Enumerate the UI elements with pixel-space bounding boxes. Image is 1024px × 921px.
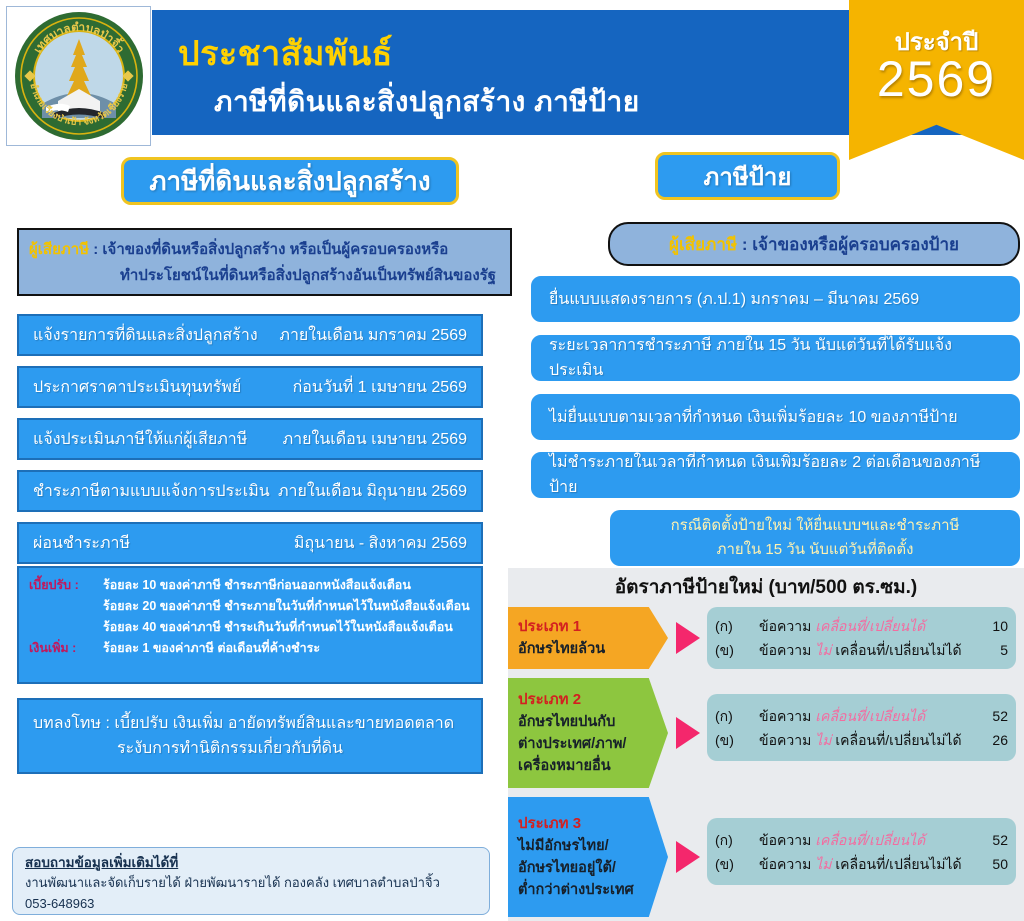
land-taxpayer-line1: ผู้เสียภาษี : เจ้าของที่ดินหรือสิ่งปลูกส… (19, 236, 510, 262)
land-row-2: แจ้งประเมินภาษีให้แก่ผู้เสียภาษี ภายในเด… (17, 418, 483, 460)
rate-row-1-0-text: ข้อความ เคลื่อนที่/เปลี่ยนได้ (759, 704, 980, 728)
land-row-3-value: ภายในเดือน มิถุนายน 2569 (278, 479, 467, 504)
section-title-land-tax: ภาษีที่ดินและสิ่งปลูกสร้าง (121, 157, 459, 205)
rate-row-0-0-amount: 10 (980, 614, 1008, 638)
land-punishment-box: บทลงโทษ : เบี้ยปรับ เงินเพิ่ม อายัดทรัพย… (17, 698, 483, 774)
rate-row-2-0-amount: 52 (980, 828, 1008, 852)
land-taxpayer-sep: : (89, 241, 102, 258)
rate-row-0-0-emph: เคลื่อนที่/เปลี่ยนได้ (815, 618, 925, 634)
rate-row-2-1-pre: ข้อความ (759, 856, 815, 872)
contact-phone: 053-648963 (25, 893, 477, 914)
rate-category-1-sub-1: ต่างประเทศ/ภาพ/ (518, 733, 668, 755)
penalty-fine-row-1: ร้อยละ 20 ของค่าภาษี ชำระภายในวันที่กำหน… (29, 596, 471, 617)
sign-taxpayer-line: ผู้เสียภาษี : เจ้าของหรือผู้ครอบครองป้าย (669, 231, 959, 258)
rate-row-0-0-pre: ข้อความ (759, 618, 815, 634)
land-row-4-label: ผ่อนชำระภาษี (33, 531, 130, 556)
rate-category-0-head: ประเภท 1 (518, 616, 668, 638)
sign-row-1: ระยะเวลาการชำระภาษี ภายใน 15 วัน นับแต่ว… (531, 335, 1020, 381)
contact-office: งานพัฒนาและจัดเก็บรายได้ ฝ่ายพัฒนารายได้… (25, 872, 477, 893)
penalty-surcharge-key: เงินเพิ่ม : (29, 638, 103, 659)
rate-row-1-1-text: ข้อความ ไม่ เคลื่อนที่/เปลี่ยนไม่ได้ (759, 728, 980, 752)
rate-row-0-1: (ข) ข้อความ ไม่ เคลื่อนที่/เปลี่ยนไม่ได้… (715, 638, 1008, 662)
year-value: 2569 (849, 50, 1024, 108)
rate-box-0: (ก) ข้อความ เคลื่อนที่/เปลี่ยนได้ 10 (ข)… (707, 607, 1016, 669)
rate-row-1-1-amount: 26 (980, 728, 1008, 752)
rate-box-1: (ก) ข้อความ เคลื่อนที่/เปลี่ยนได้ 52 (ข)… (707, 694, 1016, 761)
land-row-3: ชำระภาษีตามแบบแจ้งการประเมิน ภายในเดือน … (17, 470, 483, 512)
land-taxpayer-line2: ทำประโยชน์ในที่ดินหรือสิ่งปลูกสร้างอันเป… (19, 262, 510, 288)
rate-row-0-1-emph: ไม่ (815, 642, 831, 658)
rate-table-title: อัตราภาษีป้ายใหม่ (บาท/500 ตร.ซม.) (508, 572, 1024, 602)
header-title-primary: ประชาสัมพันธ์ (178, 26, 393, 80)
land-penalty-box: เบี้ยปรับ : ร้อยละ 10 ของค่าภาษี ชำระภาษ… (17, 566, 483, 684)
rate-row-2-0-pre: ข้อความ (759, 832, 815, 848)
rate-row-1-1-key: (ข) (715, 728, 759, 752)
rate-category-0-sub-0: อักษรไทยล้วน (518, 638, 668, 660)
sign-taxpayer-key: ผู้เสียภาษี (669, 235, 737, 254)
rate-arrow-icon-1 (676, 717, 700, 749)
penalty-fine-text-1: ร้อยละ 20 ของค่าภาษี ชำระภายในวันที่กำหน… (103, 596, 470, 617)
rate-row-0-1-text: ข้อความ ไม่ เคลื่อนที่/เปลี่ยนไม่ได้ (759, 638, 980, 662)
land-row-0-label: แจ้งรายการที่ดินและสิ่งปลูกสร้าง (33, 323, 258, 348)
land-row-3-label: ชำระภาษีตามแบบแจ้งการประเมิน (33, 479, 270, 504)
rate-row-1-0-key: (ก) (715, 704, 759, 728)
section-title-sign-tax: ภาษีป้าย (655, 152, 840, 200)
rate-box-2: (ก) ข้อความ เคลื่อนที่/เปลี่ยนได้ 52 (ข)… (707, 818, 1016, 885)
rate-arrow-icon-2 (676, 841, 700, 873)
rate-row-2-1-text: ข้อความ ไม่ เคลื่อนที่/เปลี่ยนไม่ได้ (759, 852, 980, 876)
sign-taxpayer-box: ผู้เสียภาษี : เจ้าของหรือผู้ครอบครองป้าย (608, 222, 1020, 266)
land-row-4-value: มิถุนายน - สิงหาคม 2569 (294, 531, 467, 556)
contact-title: สอบถามข้อมูลเพิ่มเติมได้ที่ (25, 853, 477, 872)
rate-category-1-sub-0: อักษรไทยปนกับ (518, 711, 668, 733)
rate-row-0-0: (ก) ข้อความ เคลื่อนที่/เปลี่ยนได้ 10 (715, 614, 1008, 638)
land-row-0: แจ้งรายการที่ดินและสิ่งปลูกสร้าง ภายในเด… (17, 314, 483, 356)
rate-row-1-0-pre: ข้อความ (759, 708, 815, 724)
rate-row-2-0-key: (ก) (715, 828, 759, 852)
rate-row-0-1-key: (ข) (715, 638, 759, 662)
header-title-secondary: ภาษีที่ดินและสิ่งปลูกสร้าง ภาษีป้าย (214, 80, 640, 124)
rate-row-1-1-pre: ข้อความ (759, 732, 815, 748)
rate-category-1-sub-2: เครื่องหมายอื่น (518, 755, 668, 777)
land-row-1-label: ประกาศราคาประเมินทุนทรัพย์ (33, 375, 241, 400)
rate-row-2-1-amount: 50 (980, 852, 1008, 876)
rate-row-0-1-pre: ข้อความ (759, 642, 815, 658)
rate-row-2-0: (ก) ข้อความ เคลื่อนที่/เปลี่ยนได้ 52 (715, 828, 1008, 852)
rate-row-1-0-emph: เคลื่อนที่/เปลี่ยนได้ (815, 708, 925, 724)
punishment-line1: บทลงโทษ : เบี้ยปรับ เงินเพิ่ม อายัดทรัพย… (19, 711, 481, 736)
land-taxpayer-key: ผู้เสียภาษี (29, 241, 89, 258)
penalty-surcharge-row: เงินเพิ่ม : ร้อยละ 1 ของค่าภาษี ต่อเดือน… (29, 638, 471, 659)
rate-category-1: ประเภท 2 อักษรไทยปนกับ ต่างประเทศ/ภาพ/ เ… (508, 678, 668, 788)
sign-taxpayer-sep: : (737, 235, 752, 254)
rate-row-0-1-amount: 5 (980, 638, 1008, 662)
land-row-4: ผ่อนชำระภาษี มิถุนายน - สิงหาคม 2569 (17, 522, 483, 564)
land-row-1-value: ก่อนวันที่ 1 เมษายน 2569 (293, 375, 467, 400)
rate-row-2-1-key: (ข) (715, 852, 759, 876)
rate-row-2-0-text: ข้อความ เคลื่อนที่/เปลี่ยนได้ (759, 828, 980, 852)
penalty-fine-row-2: ร้อยละ 40 ของค่าภาษี ชำระเกินวันที่กำหนด… (29, 617, 471, 638)
rate-row-1-1: (ข) ข้อความ ไม่ เคลื่อนที่/เปลี่ยนไม่ได้… (715, 728, 1008, 752)
land-row-2-label: แจ้งประเมินภาษีให้แก่ผู้เสียภาษี (33, 427, 247, 452)
penalty-fine-text-2: ร้อยละ 40 ของค่าภาษี ชำระเกินวันที่กำหนด… (103, 617, 453, 638)
rate-row-1-1-emph: ไม่ (815, 732, 831, 748)
rate-row-0-0-key: (ก) (715, 614, 759, 638)
notice-line1: กรณีติดตั้งป้ายใหม่ ให้ยื่นแบบฯและชำระภา… (671, 514, 960, 538)
sign-row-0: ยื่นแบบแสดงรายการ (ภ.ป.1) มกราคม – มีนาค… (531, 276, 1020, 322)
infographic-page: ประชาสัมพันธ์ ภาษีที่ดินและสิ่งปลูกสร้าง… (0, 0, 1024, 921)
land-row-0-value: ภายในเดือน มกราคม 2569 (279, 323, 467, 348)
rate-category-2: ประเภท 3 ไม่มีอักษรไทย/ อักษรไทยอยู่ใต้/… (508, 797, 668, 917)
sign-taxpayer-text: เจ้าของหรือผู้ครอบครองป้าย (752, 235, 959, 254)
rate-category-2-sub-1: อักษรไทยอยู่ใต้/ (518, 857, 668, 879)
logo-container: เทศบาลตำบลป่าจิ้ว อำเภอเวียงป่าเป้า จังห… (6, 6, 151, 146)
rate-row-0-0-text: ข้อความ เคลื่อนที่/เปลี่ยนได้ (759, 614, 980, 638)
penalty-fine-key: เบี้ยปรับ : (29, 575, 103, 596)
year-ribbon: ประจำปี 2569 (849, 0, 1024, 160)
sign-row-2: ไม่ยื่นแบบตามเวลาที่กำหนด เงินเพิ่มร้อยล… (531, 394, 1020, 440)
penalty-surcharge-text: ร้อยละ 1 ของค่าภาษี ต่อเดือนที่ค้างชำระ (103, 638, 320, 659)
contact-box: สอบถามข้อมูลเพิ่มเติมได้ที่ งานพัฒนาและจ… (12, 847, 490, 915)
rate-category-2-head: ประเภท 3 (518, 813, 668, 835)
rate-category-2-sub-0: ไม่มีอักษรไทย/ (518, 835, 668, 857)
rate-row-0-1-post: เคลื่อนที่/เปลี่ยนไม่ได้ (831, 642, 961, 658)
municipal-seal-icon: เทศบาลตำบลป่าจิ้ว อำเภอเวียงป่าเป้า จังห… (12, 9, 147, 144)
rate-category-0: ประเภท 1 อักษรไทยล้วน (508, 607, 668, 669)
land-row-2-value: ภายในเดือน เมษายน 2569 (283, 427, 467, 452)
rate-row-2-1-post: เคลื่อนที่/เปลี่ยนไม่ได้ (831, 856, 961, 872)
penalty-fine-row-0: เบี้ยปรับ : ร้อยละ 10 ของค่าภาษี ชำระภาษ… (29, 575, 471, 596)
rate-category-2-sub-2: ต่ำกว่าต่างประเทศ (518, 879, 668, 901)
rate-row-2-0-emph: เคลื่อนที่/เปลี่ยนได้ (815, 832, 925, 848)
rate-arrow-icon-0 (676, 622, 700, 654)
rate-row-1-0: (ก) ข้อความ เคลื่อนที่/เปลี่ยนได้ 52 (715, 704, 1008, 728)
land-row-1: ประกาศราคาประเมินทุนทรัพย์ ก่อนวันที่ 1 … (17, 366, 483, 408)
rate-row-2-1: (ข) ข้อความ ไม่ เคลื่อนที่/เปลี่ยนไม่ได้… (715, 852, 1008, 876)
sign-rate-panel: อัตราภาษีป้ายใหม่ (บาท/500 ตร.ซม.) ประเภ… (508, 568, 1024, 921)
sign-new-install-notice: กรณีติดตั้งป้ายใหม่ ให้ยื่นแบบฯและชำระภา… (610, 510, 1020, 566)
punishment-line2: ระงับการทำนิติกรรมเกี่ยวกับที่ดิน (19, 736, 481, 761)
penalty-fine-text-0: ร้อยละ 10 ของค่าภาษี ชำระภาษีก่อนออกหนัง… (103, 575, 411, 596)
rate-row-1-0-amount: 52 (980, 704, 1008, 728)
rate-row-2-1-emph: ไม่ (815, 856, 831, 872)
land-taxpayer-box: ผู้เสียภาษี : เจ้าของที่ดินหรือสิ่งปลูกส… (17, 228, 512, 296)
notice-line2: ภายใน 15 วัน นับแต่วันที่ติดตั้ง (717, 538, 914, 562)
land-taxpayer-text1: เจ้าของที่ดินหรือสิ่งปลูกสร้าง หรือเป็นผ… (102, 241, 448, 258)
rate-category-1-head: ประเภท 2 (518, 689, 668, 711)
rate-row-1-1-post: เคลื่อนที่/เปลี่ยนไม่ได้ (831, 732, 961, 748)
sign-row-3: ไม่ชำระภายในเวลาที่กำหนด เงินเพิ่มร้อยละ… (531, 452, 1020, 498)
